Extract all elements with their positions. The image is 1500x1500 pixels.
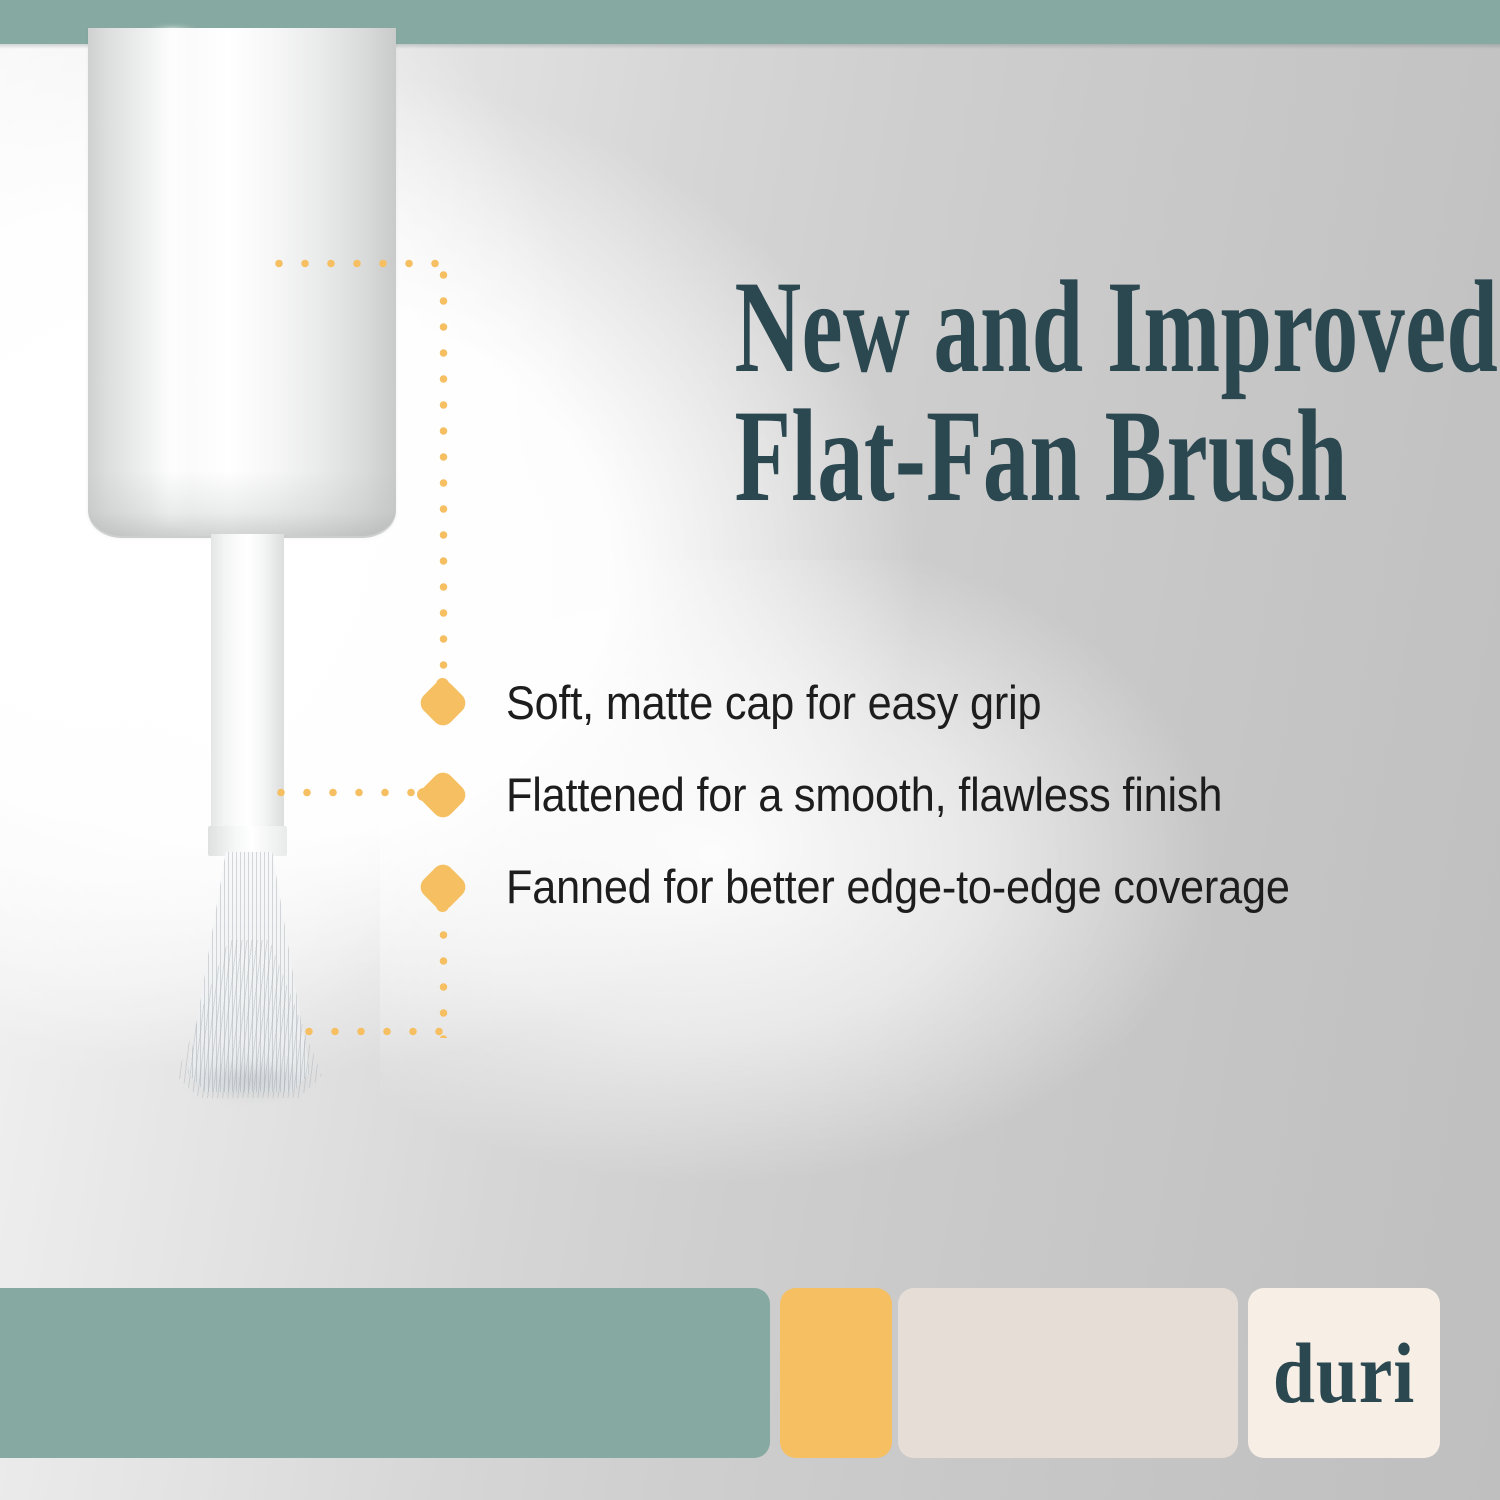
headline-line-1: New and Improved <box>735 262 1316 391</box>
footer-block-green <box>0 1288 770 1458</box>
brush-ferrule <box>208 826 287 856</box>
brush-cap-highlight <box>150 28 196 528</box>
connector-bristles-horizontal <box>296 1026 448 1037</box>
product-photo <box>0 0 500 1130</box>
feature-label: Flattened for a smooth, flawless finish <box>506 770 1222 819</box>
brush-cap <box>88 28 396 536</box>
footer-block-orange <box>780 1288 892 1458</box>
feature-item-soft-matte-cap: Soft, matte cap for easy grip <box>420 666 1460 740</box>
feature-item-flattened-finish: Flattened for a smooth, flawless finish <box>420 758 1460 832</box>
brush-cap-shading <box>88 470 396 538</box>
infographic-canvas: New and Improved Flat-Fan Brush Soft, ma… <box>0 0 1500 1500</box>
brush-bristles-shadow <box>186 1060 314 1100</box>
brand-logo: duri <box>1260 1288 1429 1458</box>
feature-item-fanned-coverage: Fanned for better edge-to-edge coverage <box>420 850 1460 924</box>
feature-label: Soft, matte cap for easy grip <box>506 678 1041 727</box>
connector-cap-vertical <box>438 262 449 682</box>
feature-label: Fanned for better edge-to-edge coverage <box>506 862 1290 911</box>
diamond-bullet-icon <box>420 772 466 818</box>
feature-list: Soft, matte cap for easy grip Flattened … <box>420 666 1460 942</box>
footer-block-beige <box>898 1288 1238 1458</box>
page-title: New and Improved Flat-Fan Brush <box>735 262 1316 521</box>
connector-stem-horizontal <box>268 787 426 798</box>
headline-line-2: Flat-Fan Brush <box>735 391 1316 520</box>
diamond-bullet-icon <box>420 864 466 910</box>
brush-stem <box>211 534 284 854</box>
connector-cap-horizontal <box>266 258 456 269</box>
diamond-bullet-icon <box>420 680 466 726</box>
